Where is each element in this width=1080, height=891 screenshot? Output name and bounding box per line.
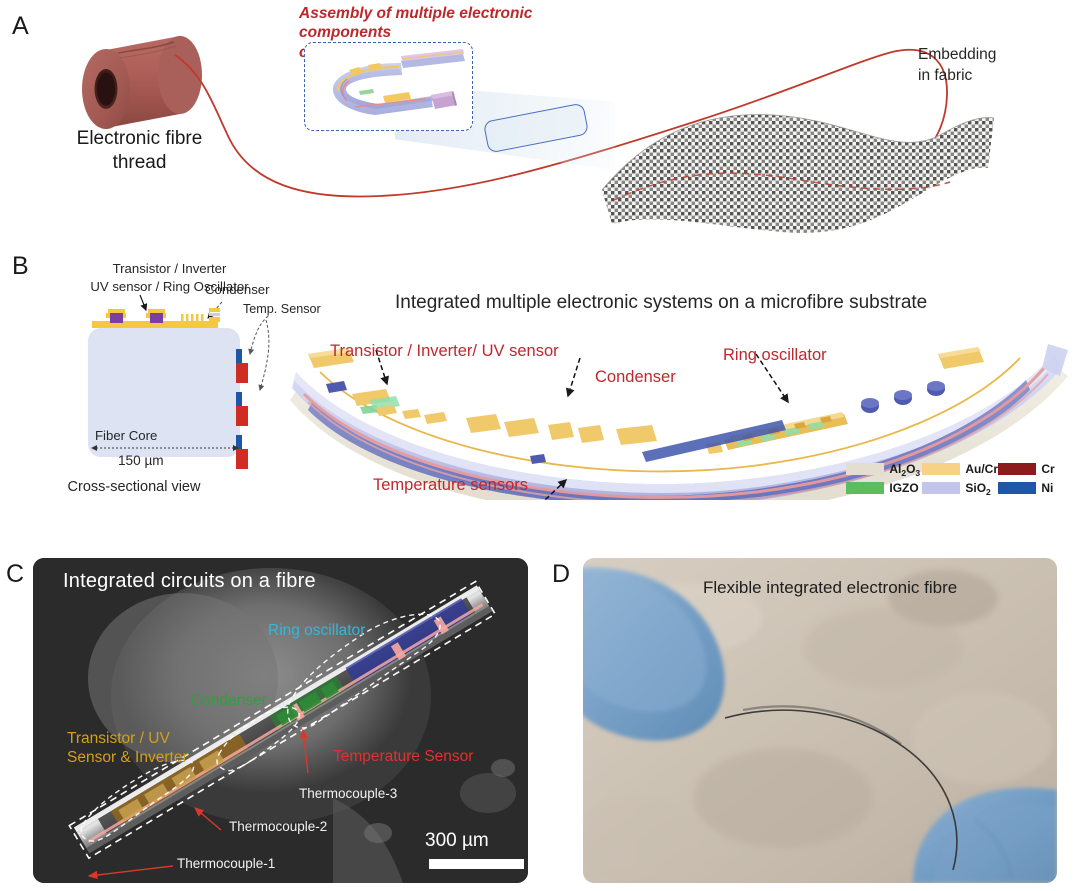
legend-label-cr: Cr xyxy=(1041,462,1074,476)
embedding-in-fabric-label: Embedding in fabric xyxy=(918,45,1048,87)
label-transistor-uv-inverter: Transistor / UV Sensor & Inverter xyxy=(67,730,188,767)
legend-swatch-aucr xyxy=(922,463,960,475)
label-thermocouple-2: Thermocouple-2 xyxy=(229,819,327,835)
scale-bar-label: 300 µm xyxy=(425,830,489,852)
annotation-ring-oscillator: Ring oscillator xyxy=(723,346,827,365)
annotation-transistor: Transistor / Inverter/ UV sensor xyxy=(330,342,559,361)
cross-sectional-view-caption: Cross-sectional view xyxy=(34,479,234,496)
label-temperature-sensor: Temperature Sensor xyxy=(333,748,473,767)
panel-c-title: Integrated circuits on a fibre xyxy=(63,570,316,594)
microfibre-device-inset xyxy=(304,42,473,131)
fiber-core-label: Fiber Core xyxy=(95,428,157,444)
photo-background xyxy=(583,558,1057,883)
panel-c-sem-image: Integrated circuits on a fibre Ring osci… xyxy=(33,558,528,883)
legend-row-1: Al2O3 Au/Cr Cr xyxy=(846,461,1074,476)
panel-a: A xyxy=(0,0,1080,250)
label-condenser: Condenser xyxy=(191,692,267,711)
legend-swatch-sio2 xyxy=(922,482,960,494)
materials-legend: Al2O3 Au/Cr Cr IGZO SiO2 Ni xyxy=(846,461,1074,499)
legend-label-al2o3: Al2O3 xyxy=(889,462,922,476)
panel-d-letter: D xyxy=(552,562,570,587)
legend-label-ni: Ni xyxy=(1041,481,1074,495)
label-thermocouple-3: Thermocouple-3 xyxy=(299,786,397,802)
legend-swatch-ni xyxy=(998,482,1036,494)
annotation-condenser: Condenser xyxy=(595,368,676,387)
legend-swatch-cr xyxy=(998,463,1036,475)
legend-swatch-igzo xyxy=(846,482,884,494)
legend-label-aucr: Au/Cr xyxy=(965,462,998,476)
label-thermocouple-1: Thermocouple-1 xyxy=(177,856,275,872)
panel-d-photo: Flexible integrated electronic fibre xyxy=(583,558,1057,883)
legend-swatch-al2o3 xyxy=(846,463,884,475)
fiber-dimension-label: 150 µm xyxy=(118,453,164,469)
annotation-temperature-sensors: Temperature sensors xyxy=(373,476,528,495)
figure-root: A xyxy=(0,0,1080,891)
legend-label-igzo: IGZO xyxy=(889,481,922,495)
legend-label-sio2: SiO2 xyxy=(965,481,998,495)
scale-bar xyxy=(429,859,524,869)
panel-d-title: Flexible integrated electronic fibre xyxy=(703,578,957,598)
panel-b: B Integrated multiple electronic systems… xyxy=(0,250,1080,545)
woven-fabric-icon xyxy=(590,72,1000,255)
label-ring-oscillator: Ring oscillator xyxy=(268,622,365,641)
legend-row-2: IGZO SiO2 Ni xyxy=(846,480,1074,495)
panel-c-letter: C xyxy=(6,562,24,587)
